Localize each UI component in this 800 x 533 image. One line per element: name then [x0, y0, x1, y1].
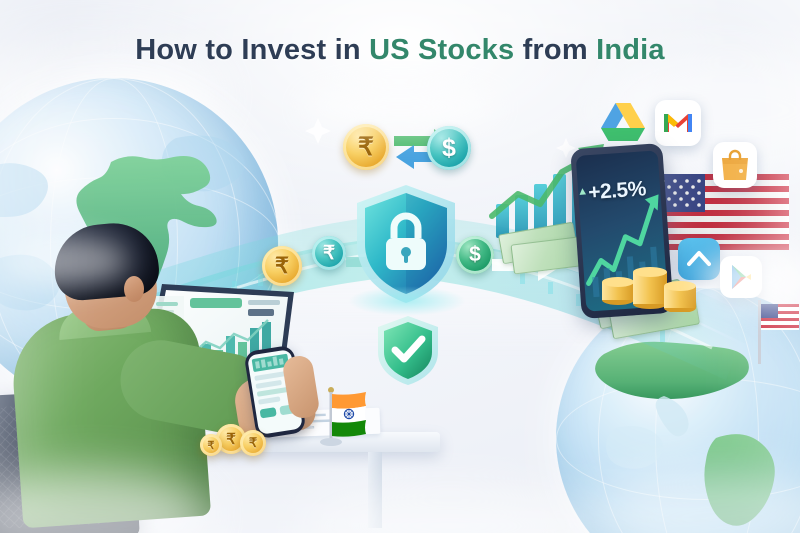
person-ear: [124, 276, 144, 302]
verified-shield-check: [375, 314, 441, 386]
page-title: How to Invest in US Stocks from India: [0, 34, 800, 67]
gmail-icon[interactable]: [655, 100, 701, 146]
shopping-bag-icon[interactable]: [713, 142, 757, 188]
shield-glow-pedestal: [348, 286, 466, 316]
india-flag: [310, 386, 370, 452]
title-part-3: from: [514, 34, 596, 66]
us-flag-small: [758, 300, 800, 364]
title-part-4: India: [596, 34, 665, 66]
phone-trend-up-icon: ▲: [577, 185, 589, 198]
rupee-coin-top: ₹: [343, 124, 389, 170]
dollar-coin-top: $: [427, 126, 471, 170]
desk-coin: ₹: [240, 430, 266, 456]
google-drive-icon[interactable]: [600, 98, 646, 144]
phone-ticker-value: +2.5%: [587, 177, 646, 205]
rupee-coin-mid-right: ₹: [312, 236, 346, 270]
hero-banner-canvas: ₹ $ ₹ ₹ $: [0, 0, 800, 533]
desk-coin: ₹: [200, 434, 222, 456]
title-part-2: US Stocks: [369, 34, 514, 66]
cloud-top-center: [300, 84, 500, 130]
title-part-1: How to Invest in: [135, 34, 369, 66]
cloud-left-mid: [0, 236, 130, 286]
gold-coin-stacks: [600, 236, 700, 312]
